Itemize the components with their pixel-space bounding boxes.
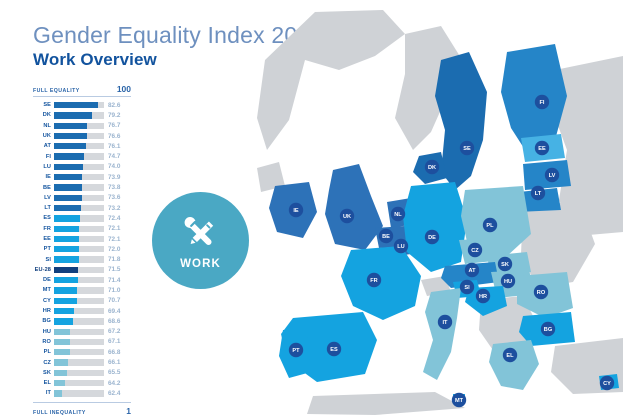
bar-fill [54,370,67,376]
label-text: EE [538,146,546,152]
country-code: SE [33,102,54,108]
label-text: IT [443,320,449,326]
country-code: BG [33,318,54,324]
score-value: 72.0 [104,246,120,253]
label-text: HR [479,294,487,300]
ranking-row: SK65.5 [33,368,131,378]
country-code: RO [33,339,54,345]
map-label-CZ: CZ [468,243,482,257]
ranking-row: NL76.7 [33,121,131,131]
bar-fill [54,390,62,396]
country-code: MT [33,287,54,293]
country-code: LT [33,205,54,211]
bar-fill [54,256,79,262]
label-text: LT [535,191,542,197]
country-non-eu-africa [307,392,465,415]
map-label-BE: BE [379,229,393,243]
country-IT [423,288,461,380]
ranking-row: DE71.4 [33,275,131,285]
score-value: 71.0 [104,287,120,294]
map-label-NL: NL [391,207,405,221]
map-label-LU: LU [394,239,408,253]
ranking-row: UK76.6 [33,131,131,141]
bar-fill [54,246,79,252]
bar-track [54,256,104,262]
ranking-row: FI74.7 [33,151,131,161]
map-label-DE: DE [425,230,439,244]
score-value: 74.0 [104,163,120,170]
score-value: 71.8 [104,256,120,263]
map-label-MT: MT [452,393,466,407]
label-text: PT [292,348,300,354]
map-label-EE: EE [535,141,549,155]
bar-fill [54,174,82,180]
label-text: MT [455,398,464,404]
map-label-IT: IT [438,315,452,329]
bar-track [54,143,104,149]
ranking-row: LV73.6 [33,193,131,203]
map-label-DK: DK [425,160,439,174]
ranking-row: IE73.9 [33,172,131,182]
ranking-row: MT71.0 [33,285,131,295]
score-value: 82.6 [104,102,120,109]
infographic-root: Gender Equality Index 2017 Work Overview… [0,0,623,415]
country-FR [341,246,421,320]
label-text: DK [428,165,436,171]
label-text: FI [540,100,545,106]
bar-fill [54,339,70,345]
bar-track [54,102,104,108]
ranking-row: CZ66.1 [33,357,131,367]
scale-bottom-divider [33,402,131,403]
map-label-HR: HR [476,289,490,303]
score-value: 62.4 [104,390,120,397]
score-value: 76.1 [104,143,120,150]
country-code: PT [33,246,54,252]
country-code: CY [33,298,54,304]
map-label-SI: SI [460,280,474,294]
ranking-row: SI71.8 [33,254,131,264]
bar-fill [54,236,79,242]
map-label-SK: SK [498,257,512,271]
label-text: BE [382,234,390,240]
scale-top-divider [33,96,131,97]
country-code: DK [33,112,54,118]
ranking-row: DK79.2 [33,110,131,120]
country-ranking-chart: FULL EQUALITY 100 SE82.6DK79.2NL76.7UK76… [33,84,131,415]
label-text: SE [463,146,471,152]
ranking-row: FR72.1 [33,224,131,234]
label-text: SI [464,285,470,291]
label-text: PL [486,223,494,229]
bar-track [54,133,104,139]
bar-track [54,298,104,304]
country-code: FI [33,154,54,160]
map-label-LV: LV [545,168,559,182]
country-code: EL [33,380,54,386]
bar-track [54,246,104,252]
score-value: 65.5 [104,369,120,376]
country-code: SK [33,370,54,376]
bar-fill [54,153,84,159]
map-label-BG: BG [541,322,555,336]
country-code: EU-28 [33,267,54,273]
map-label-PL: PL [483,218,497,232]
bar-track [54,205,104,211]
country-code: IT [33,390,54,396]
bar-track [54,153,104,159]
score-value: 73.9 [104,174,120,181]
label-text: IE [293,208,299,214]
ranking-row: EE72.1 [33,234,131,244]
map-label-SE: SE [460,141,474,155]
label-text: EL [506,353,514,359]
country-UK [325,164,383,250]
wrench-pencil-icon [181,214,221,254]
bar-track [54,318,104,324]
ranking-row: EL64.2 [33,378,131,388]
bar-track [54,308,104,314]
map-label-AT: AT [465,263,479,277]
score-value: 73.8 [104,184,120,191]
score-value: 73.2 [104,205,120,212]
ranking-rows: SE82.6DK79.2NL76.7UK76.6AT76.1FI74.7LU74… [33,100,131,399]
bar-track [54,339,104,345]
bar-track [54,267,104,273]
bar-fill [54,298,77,304]
map-label-LT: LT [531,186,545,200]
map-label-FR: FR [367,273,381,287]
score-value: 71.4 [104,277,120,284]
scale-top-value: 100 [117,84,131,94]
ranking-row: AT76.1 [33,141,131,151]
bar-track [54,123,104,129]
scale-bottom-label: FULL INEQUALITY [33,410,86,415]
label-text: CY [603,381,611,387]
country-EL [489,340,539,390]
label-text: UK [343,214,351,220]
bar-fill [54,133,87,139]
map-country-shapes [257,10,623,415]
bar-fill [54,205,81,211]
bar-track [54,164,104,170]
country-code: BE [33,185,54,191]
bar-track [54,287,104,293]
country-code: UK [33,133,54,139]
bar-track [54,215,104,221]
score-value: 67.1 [104,338,120,345]
map-label-FI: FI [535,95,549,109]
score-value: 72.1 [104,236,120,243]
ranking-row: CY70.7 [33,296,131,306]
map-label-RO: RO [534,285,548,299]
ranking-row: EU-2871.5 [33,265,131,275]
country-code: EE [33,236,54,242]
label-text: AT [468,268,476,274]
bar-fill [54,329,70,335]
score-value: 71.5 [104,266,120,273]
bar-fill [54,308,74,314]
europe-choropleth-map: SEFIEELVLTDKIEUKNLBELUDEPLCZSKATHUSIHRRO… [255,0,623,415]
score-value: 72.1 [104,225,120,232]
country-code: DE [33,277,54,283]
country-code: NL [33,123,54,129]
score-value: 76.7 [104,122,120,129]
work-badge-label: WORK [180,258,221,270]
bar-track [54,329,104,335]
bar-fill [54,195,82,201]
country-code: FR [33,226,54,232]
label-text: LU [397,244,404,250]
scale-bottom: FULL INEQUALITY 1 [33,406,131,415]
country-code: SI [33,257,54,263]
bar-track [54,195,104,201]
score-value: 68.6 [104,318,120,325]
ranking-row: SE82.6 [33,100,131,110]
score-value: 79.2 [104,112,120,119]
label-text: RO [537,290,546,296]
label-text: LV [549,173,556,179]
ranking-row: HR69.4 [33,306,131,316]
bar-track [54,184,104,190]
country-code: LU [33,164,54,170]
country-code: CZ [33,360,54,366]
ranking-row: BE73.8 [33,182,131,192]
score-value: 66.1 [104,359,120,366]
label-text: NL [394,212,402,218]
bar-fill [54,143,86,149]
score-value: 70.7 [104,297,120,304]
bar-fill [54,267,78,273]
country-DE [403,182,467,272]
label-text: FR [370,278,377,284]
bar-track [54,112,104,118]
label-text: DE [428,235,436,241]
map-label-ES: ES [327,342,341,356]
bar-track [54,370,104,376]
bar-fill [54,112,92,118]
bar-fill [54,184,82,190]
map-label-HU: HU [501,274,515,288]
label-text: HU [504,279,512,285]
country-code: HR [33,308,54,314]
score-value: 66.8 [104,349,120,356]
label-text: CZ [471,248,479,254]
bar-track [54,236,104,242]
bar-fill [54,318,73,324]
scale-bottom-value: 1 [126,406,131,415]
work-domain-badge: WORK [152,192,249,289]
score-value: 72.4 [104,215,120,222]
bar-track [54,174,104,180]
scale-top-label: FULL EQUALITY [33,88,80,94]
score-value: 69.4 [104,308,120,315]
ranking-row: HU67.2 [33,327,131,337]
country-non-eu-north [257,10,405,150]
score-value: 64.2 [104,380,120,387]
bar-fill [54,102,98,108]
bar-track [54,380,104,386]
score-value: 73.6 [104,194,120,201]
map-label-UK: UK [340,209,354,223]
ranking-row: PT72.0 [33,244,131,254]
bar-fill [54,359,68,365]
map-label-CY: CY [600,376,614,390]
bar-fill [54,349,70,355]
bar-fill [54,277,78,283]
label-text: BG [544,327,552,333]
score-value: 76.6 [104,133,120,140]
bar-track [54,390,104,396]
ranking-row: LU74.0 [33,162,131,172]
bar-track [54,226,104,232]
country-code: LV [33,195,54,201]
ranking-row: ES72.4 [33,213,131,223]
bar-fill [54,164,83,170]
ranking-row: IT62.4 [33,388,131,398]
label-text: ES [330,347,338,353]
bar-fill [54,215,80,221]
bar-fill [54,226,79,232]
bar-track [54,277,104,283]
country-code: AT [33,143,54,149]
bar-track [54,359,104,365]
bar-fill [54,380,65,386]
bar-fill [54,287,77,293]
ranking-row: PL66.8 [33,347,131,357]
country-code: IE [33,174,54,180]
map-label-EL: EL [503,348,517,362]
map-label-PT: PT [289,343,303,357]
ranking-row: BG68.6 [33,316,131,326]
country-code: HU [33,329,54,335]
scale-top: FULL EQUALITY 100 [33,84,131,96]
country-code: PL [33,349,54,355]
ranking-row: LT73.2 [33,203,131,213]
country-code: ES [33,215,54,221]
bar-track [54,349,104,355]
ranking-row: RO67.1 [33,337,131,347]
label-text: SK [501,262,509,268]
score-value: 74.7 [104,153,120,160]
map-label-IE: IE [289,203,303,217]
score-value: 67.2 [104,328,120,335]
bar-fill [54,123,87,129]
